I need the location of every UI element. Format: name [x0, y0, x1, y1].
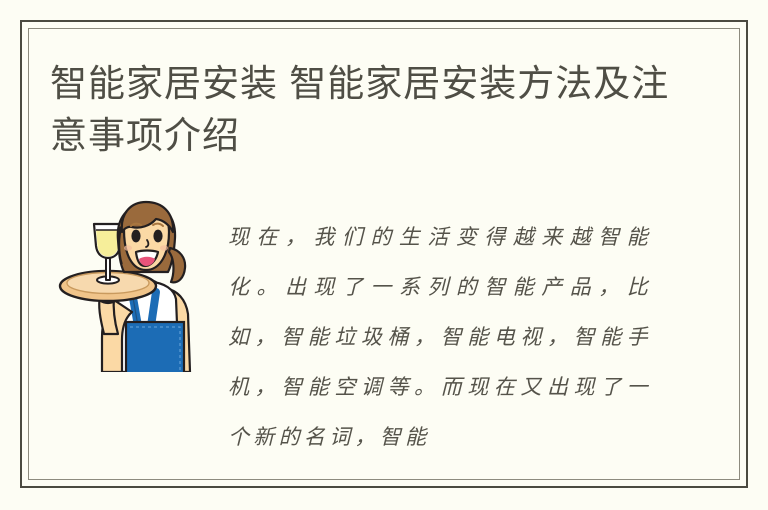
- page-title: 智能家居安装 智能家居安装方法及注意事项介绍: [50, 58, 690, 162]
- cheek-right: [160, 245, 168, 251]
- article-body-text: 现在，我们的生活变得越来越智能化。出现了一系列的智能产品，比如，智能垃圾桶，智能…: [228, 212, 652, 462]
- apron-body: [126, 322, 184, 372]
- waitress-illustration-svg: [52, 196, 204, 372]
- eye-right: [153, 230, 162, 243]
- illustration-cartoon-waitress: [52, 196, 204, 372]
- glass-stem: [106, 256, 110, 280]
- apron-strap-right: [151, 292, 156, 326]
- cheek-left: [124, 245, 132, 251]
- eye-left: [131, 230, 140, 243]
- page-root: 智能家居安装 智能家居安装方法及注意事项介绍: [0, 0, 768, 510]
